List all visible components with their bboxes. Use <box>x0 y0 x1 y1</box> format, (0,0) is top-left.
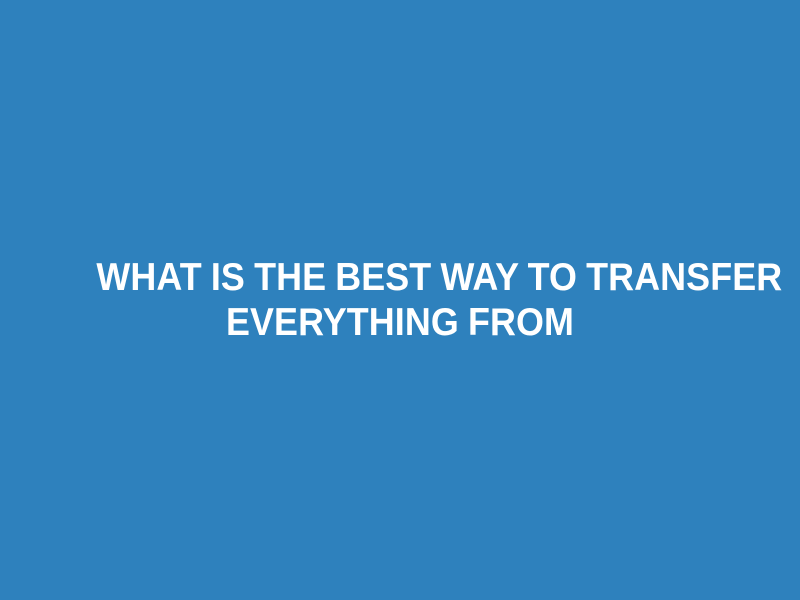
headline-line-2: EVERYTHING FROM <box>96 300 703 345</box>
headline-line-1: WHAT IS THE BEST WAY TO TRANSFER <box>96 255 703 300</box>
article-header-banner: WHAT IS THE BEST WAY TO TRANSFER EVERYTH… <box>0 0 800 600</box>
page-title: WHAT IS THE BEST WAY TO TRANSFER EVERYTH… <box>96 255 703 345</box>
